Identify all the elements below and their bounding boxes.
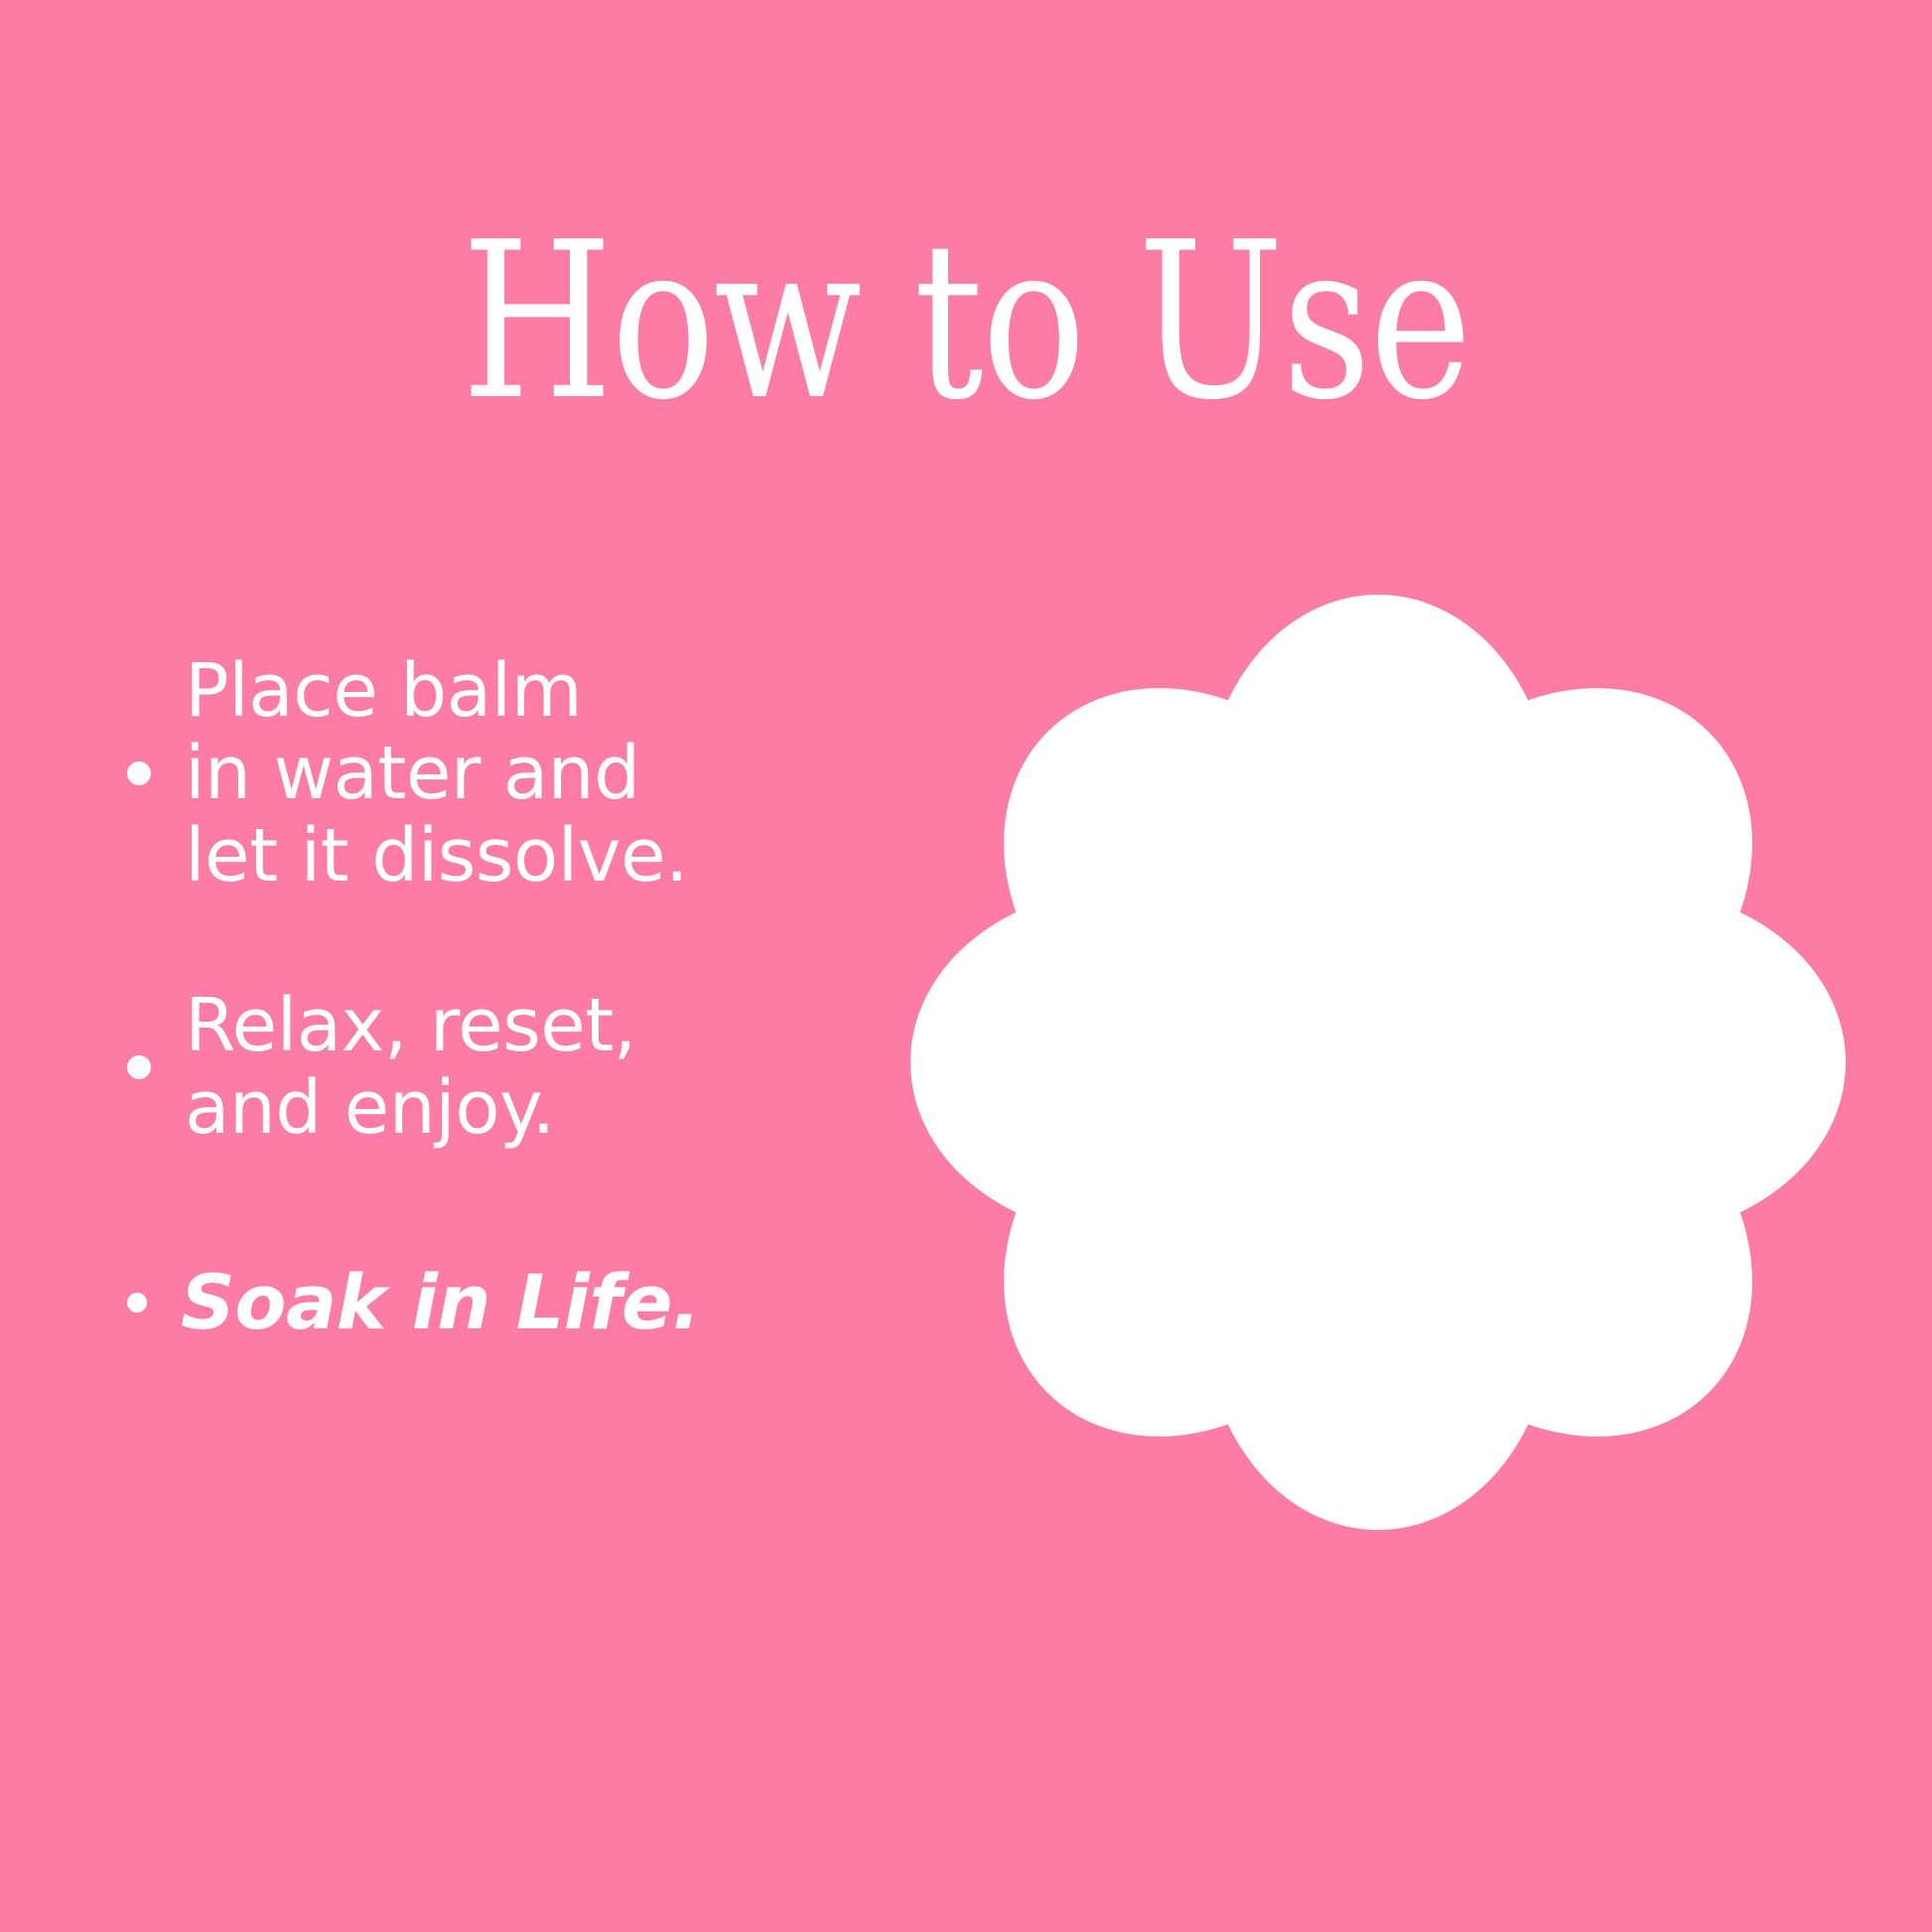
sticker-outline — [943, 627, 1813, 1497]
step-text: Place balm in water and let it dissolve. — [185, 650, 862, 897]
list-item: Relax, reset, and enjoy. — [127, 985, 862, 1150]
steps-list: Place balm in water and let it dissolve.… — [127, 650, 862, 1344]
flower-sticker-graphic — [882, 566, 1874, 1559]
page-title: How to Use — [194, 214, 1739, 431]
step-text: Relax, reset, and enjoy. — [185, 985, 862, 1150]
list-item: Soak in Life. — [127, 1260, 862, 1344]
bullet-dot-icon — [127, 1293, 147, 1312]
flower-photo-sticker — [882, 566, 1874, 1559]
list-item: Place balm in water and let it dissolve. — [127, 650, 862, 897]
bullet-dot-icon — [127, 1055, 151, 1079]
bullet-dot-icon — [127, 761, 151, 785]
step-text: Soak in Life. — [181, 1260, 862, 1344]
how-to-use-poster: How to Use Place balm in water and let i… — [0, 0, 1932, 1932]
